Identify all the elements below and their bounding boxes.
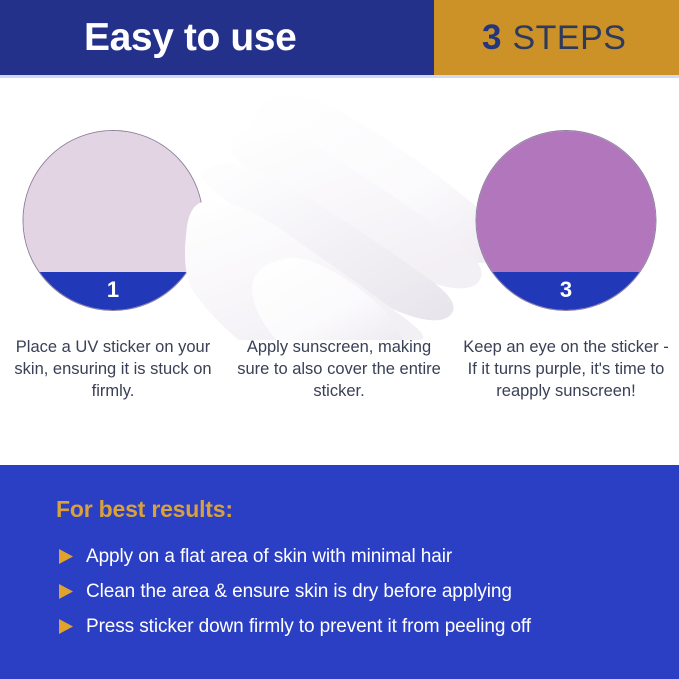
triangle-right-icon [56,582,75,601]
page-title: Easy to use [84,18,296,57]
sticker-circle-1: 1 [23,130,204,311]
step-2-illustration: 2 [249,130,430,311]
list-item: Apply on a flat area of skin with minima… [56,539,656,574]
steps-count: 3 [482,20,501,55]
best-results-bullet-2: Clean the area & ensure skin is dry befo… [86,580,512,603]
header-left-panel: Easy to use [0,0,434,75]
step-number-2: 2 [333,279,345,301]
step-item-1: 1 Place a UV sticker on your skin, ensur… [0,78,226,463]
step-1-illustration: 1 [23,130,204,311]
sticker-face-3 [477,131,656,272]
best-results-panel: For best results: Apply on a flat area o… [0,465,679,679]
header-bar: Easy to use 3 STEPS [0,0,679,75]
step-number-band-3: 3 [477,272,656,310]
best-results-list: Apply on a flat area of skin with minima… [56,539,656,644]
step-item-3: 3 Keep an eye on the sticker - If it tur… [453,78,679,463]
infographic-page: Easy to use 3 STEPS 1 Place a UV sticker… [0,0,679,679]
sticker-face-2 [250,131,429,272]
step-item-2: 2 [226,78,452,463]
best-results-heading: For best results: [56,498,233,521]
sticker-circle-3: 3 [476,130,657,311]
step-caption-3: Keep an eye on the sticker - If it turns… [461,336,671,402]
step-caption-1: Place a UV sticker on your skin, ensurin… [8,336,218,402]
sticker-circle-2: 2 [249,130,430,311]
triangle-right-icon [56,617,75,636]
step-3-illustration: 3 [476,130,657,311]
step-number-1: 1 [107,279,119,301]
step-number-band-1: 1 [24,272,203,310]
best-results-bullet-3: Press sticker down firmly to prevent it … [86,615,531,638]
steps-row: 1 Place a UV sticker on your skin, ensur… [0,78,679,463]
sticker-face-1 [24,131,203,272]
best-results-bullet-1: Apply on a flat area of skin with minima… [86,545,452,568]
list-item: Clean the area & ensure skin is dry befo… [56,574,656,609]
header-right-panel: 3 STEPS [434,0,679,75]
step-number-3: 3 [560,279,572,301]
triangle-right-icon [56,547,75,566]
step-number-band-2: 2 [250,272,429,310]
list-item: Press sticker down firmly to prevent it … [56,609,656,644]
steps-label: STEPS [512,21,626,55]
step-caption-2: Apply sunscreen, making sure to also cov… [234,336,444,402]
